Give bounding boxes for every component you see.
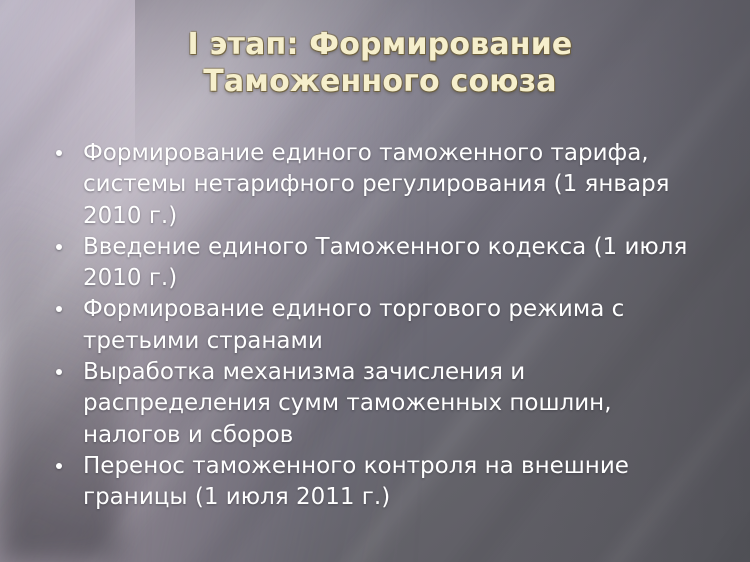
list-item-text: Формирование единого таможенного тарифа,… bbox=[83, 138, 706, 232]
bullet-dot-icon bbox=[56, 463, 62, 469]
list-item: Формирование единого торгового режима с … bbox=[46, 294, 706, 357]
list-item-text: Выработка механизма зачисления и распред… bbox=[83, 357, 706, 451]
bullet-dot-icon bbox=[56, 150, 62, 156]
slide-title-line-2: Таможенного союза bbox=[60, 63, 700, 100]
slide-bullet-list: Формирование единого таможенного тарифа,… bbox=[46, 138, 706, 514]
presentation-slide: I этап: Формирование Таможенного союза Ф… bbox=[0, 0, 750, 562]
slide-title-line-1: I этап: Формирование bbox=[60, 26, 700, 63]
list-item-text: Формирование единого торгового режима с … bbox=[83, 294, 706, 357]
list-item: Перенос таможенного контроля на внешние … bbox=[46, 451, 706, 514]
bullet-dot-icon bbox=[56, 244, 62, 250]
slide-title: I этап: Формирование Таможенного союза bbox=[60, 26, 700, 100]
list-item-text: Перенос таможенного контроля на внешние … bbox=[83, 451, 706, 514]
list-item: Формирование единого таможенного тарифа,… bbox=[46, 138, 706, 232]
list-item-text: Введение единого Таможенного кодекса (1 … bbox=[83, 232, 706, 295]
bullet-dot-icon bbox=[56, 369, 62, 375]
list-item: Выработка механизма зачисления и распред… bbox=[46, 357, 706, 451]
slide-content: I этап: Формирование Таможенного союза Ф… bbox=[0, 0, 750, 562]
list-item: Введение единого Таможенного кодекса (1 … bbox=[46, 232, 706, 295]
bullet-dot-icon bbox=[56, 306, 62, 312]
